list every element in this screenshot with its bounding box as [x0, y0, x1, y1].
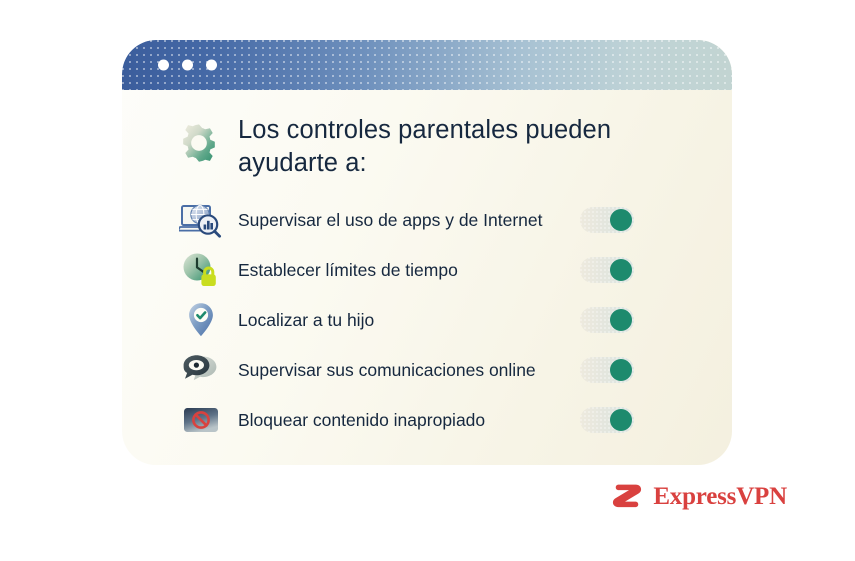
toggle-knob	[610, 309, 632, 331]
clock-lock-icon	[178, 248, 224, 292]
window-control-dots	[158, 60, 217, 71]
list-item-label: Supervisar el uso de apps y de Internet	[238, 209, 580, 232]
window-minimize-dot[interactable]	[182, 60, 193, 71]
window-close-dot[interactable]	[158, 60, 169, 71]
toggle-knob	[610, 409, 632, 431]
toggle-knob	[610, 359, 632, 381]
list-item: Bloquear contenido inapropiado	[178, 395, 692, 445]
toggle-switch[interactable]	[580, 207, 634, 233]
toggle-switch[interactable]	[580, 257, 634, 283]
toggle-switch[interactable]	[580, 357, 634, 383]
map-pin-check-icon	[178, 298, 224, 342]
list-item-label: Establecer límites de tiempo	[238, 259, 580, 282]
list-item: Supervisar sus comunicaciones online	[178, 345, 692, 395]
list-item-label: Supervisar sus comunicaciones online	[238, 359, 580, 382]
list-item-label: Localizar a tu hijo	[238, 309, 580, 332]
heading-row: Los controles parentales pueden ayudarte…	[122, 90, 732, 179]
brand-lockup: ExpressVPN	[610, 482, 787, 512]
window-maximize-dot[interactable]	[206, 60, 217, 71]
window-title-bar	[122, 40, 732, 90]
brand-name: ExpressVPN	[653, 483, 787, 511]
list-item-label: Bloquear contenido inapropiado	[238, 409, 580, 432]
toggle-switch[interactable]	[580, 307, 634, 333]
list-item: Establecer límites de tiempo	[178, 245, 692, 295]
laptop-globe-magnifier-icon	[178, 198, 224, 242]
chat-bubble-eye-icon	[178, 348, 224, 392]
expressvpn-logo-icon	[610, 482, 644, 512]
gear-icon	[176, 120, 222, 166]
card-body: Los controles parentales pueden ayudarte…	[122, 90, 732, 465]
toggle-knob	[610, 259, 632, 281]
toggle-switch[interactable]	[580, 407, 634, 433]
toggle-knob	[610, 209, 632, 231]
feature-list: Supervisar el uso de apps y de Internet	[122, 195, 732, 445]
screen-blocked-icon	[178, 398, 224, 442]
page-title: Los controles parentales pueden ayudarte…	[238, 114, 678, 179]
list-item: Localizar a tu hijo	[178, 295, 692, 345]
browser-window-card: Los controles parentales pueden ayudarte…	[122, 40, 732, 465]
list-item: Supervisar el uso de apps y de Internet	[178, 195, 692, 245]
